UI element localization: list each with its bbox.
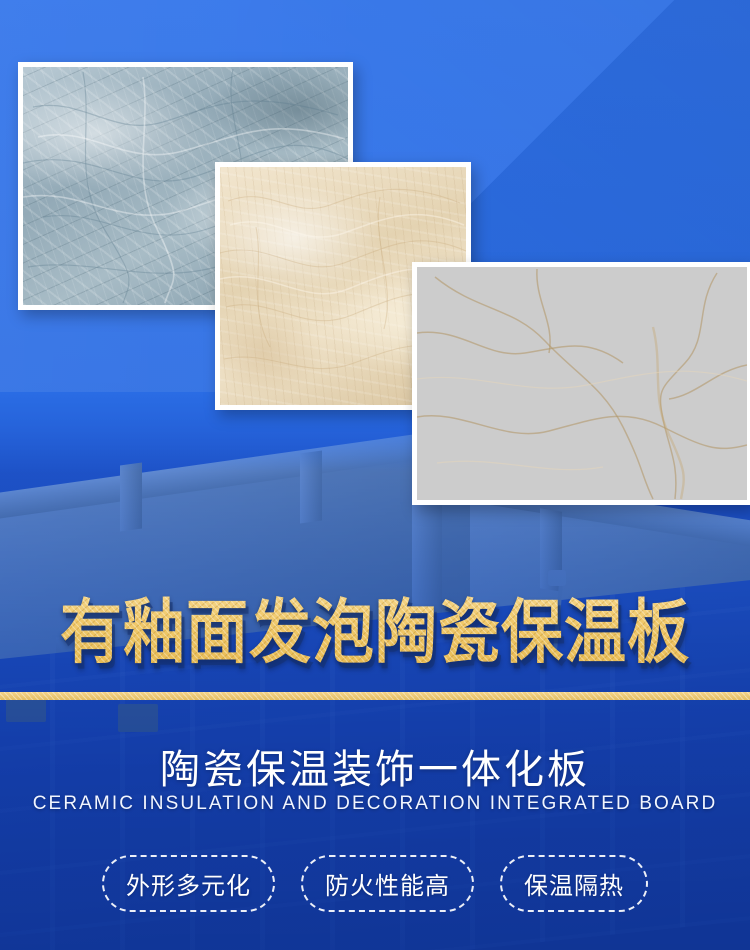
- headline-container: 有釉面发泡陶瓷保温板: [0, 576, 750, 676]
- feature-badge-fire-resistance: 防火性能高: [301, 855, 474, 912]
- gold-divider: [0, 692, 750, 700]
- tan-marble-tile: [412, 262, 750, 505]
- subtitle-chinese: 陶瓷保温装饰一体化板: [0, 737, 750, 795]
- page-title: 有釉面发泡陶瓷保温板: [60, 576, 690, 677]
- subtitle-english: CERAMIC INSULATION AND DECORATION INTEGR…: [0, 793, 750, 815]
- feature-badge-shape-variety: 外形多元化: [102, 855, 275, 912]
- feature-badge-list: 外形多元化 防火性能高 保温隔热: [0, 855, 750, 912]
- feature-badge-thermal-insulation: 保温隔热: [500, 855, 648, 912]
- tan-marble-vein-overlay: [417, 267, 747, 500]
- product-promo-banner: 有釉面发泡陶瓷保温板 陶瓷保温装饰一体化板 CERAMIC INSULATION…: [0, 0, 750, 950]
